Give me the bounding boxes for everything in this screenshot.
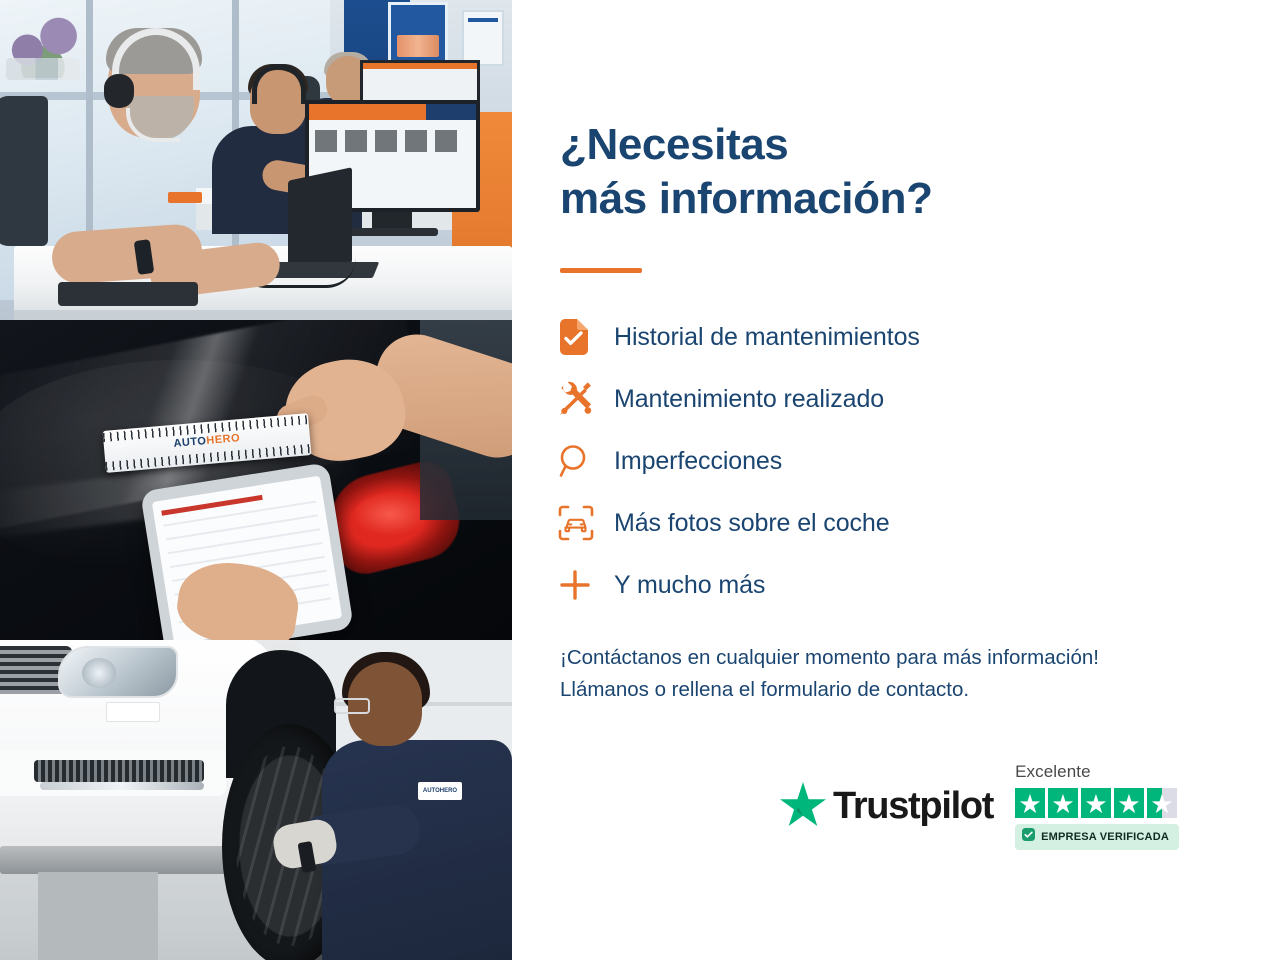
verified-company-label: EMPRESA VERIFICADA (1041, 831, 1169, 843)
trustpilot-rating-block: Excelente EMPRESA VERIFICADA (1015, 762, 1179, 850)
trustpilot-rating-word: Excelente (1015, 762, 1179, 782)
trustpilot-wordmark: Trustpilot (833, 785, 993, 828)
photo-column: AUTOHERO (0, 0, 512, 960)
star-filled (1114, 788, 1144, 818)
monitor-base (348, 228, 438, 236)
tail-light-glow (352, 492, 428, 536)
page-title: ¿Necesitas más información? (560, 118, 933, 225)
star-filled (1015, 788, 1045, 818)
safety-glasses (334, 698, 370, 714)
uniform-logo (168, 192, 202, 203)
contact-line-2: Llámanos o rellena el formulario de cont… (560, 674, 1099, 706)
bumper-vent (34, 760, 204, 782)
feature-label: Imperfecciones (614, 447, 782, 476)
feature-item-maintenance-done: Mantenimiento realizado (558, 368, 1118, 430)
tyre-change-workshop-photo (0, 640, 512, 960)
headline-line-1: ¿Necesitas (560, 120, 788, 169)
trustpilot-stars (1015, 788, 1179, 818)
headline-line-2: más información? (560, 174, 933, 223)
plus-icon (558, 568, 614, 602)
window-cars (6, 58, 80, 80)
agent-one-earcup (104, 74, 134, 108)
car-scan-icon (558, 505, 614, 541)
call-center-agents-photo (0, 0, 512, 320)
feature-item-more-photos: Más fotos sobre el coche (558, 492, 1118, 554)
document-check-icon (558, 319, 614, 355)
trustpilot-star-icon (780, 782, 826, 831)
uniform-logo (418, 782, 462, 800)
star-filled (1048, 788, 1078, 818)
desk-tablet (58, 282, 198, 306)
chrome-trim (40, 782, 204, 790)
feature-label: Historial de mantenimientos (614, 323, 920, 352)
magnifier-icon (558, 444, 614, 478)
car-lift-platform (0, 846, 240, 874)
title-underline-rule (560, 268, 642, 273)
verified-company-badge: EMPRESA VERIFICADA (1015, 824, 1179, 850)
promo-banner: AUTOHERO (0, 0, 1280, 960)
star-half (1147, 788, 1177, 818)
contact-line-1: ¡Contáctanos en cualquier momento para m… (560, 642, 1099, 674)
wall-poster (388, 2, 448, 66)
feature-list: Historial de mantenimientos Mantenim (558, 306, 1118, 616)
feature-item-imperfections: Imperfecciones (558, 430, 1118, 492)
trustpilot-widget[interactable]: Trustpilot Excelente (780, 762, 1179, 850)
car-headlight (58, 646, 178, 698)
wall-notice (462, 10, 504, 66)
feature-item-maintenance-history: Historial de mantenimientos (558, 306, 1118, 368)
content-panel: ¿Necesitas más información? Historial de… (512, 0, 1280, 960)
car-inspection-ruler-photo: AUTOHERO (0, 320, 512, 640)
car-lift-column (38, 872, 158, 960)
feature-label: Mantenimiento realizado (614, 385, 884, 414)
check-badge-icon (1022, 828, 1035, 846)
desk-edge (14, 310, 512, 320)
tools-wrench-screwdriver-icon (558, 381, 614, 417)
feature-label: Y mucho más (614, 571, 765, 600)
star-filled (1081, 788, 1111, 818)
contact-text: ¡Contáctanos en cualquier momento para m… (560, 642, 1099, 706)
feature-item-much-more: Y mucho más (558, 554, 1118, 616)
trustpilot-logo: Trustpilot (780, 782, 993, 831)
feature-label: Más fotos sobre el coche (614, 509, 890, 538)
licence-plate-blank (106, 702, 160, 722)
